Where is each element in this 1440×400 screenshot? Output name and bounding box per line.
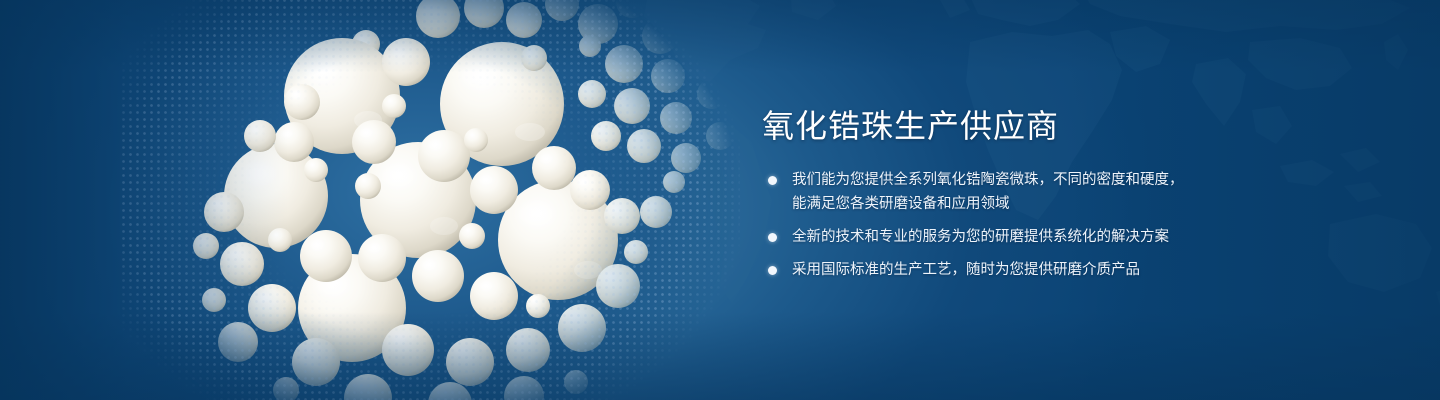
banner-copy: 氧化锆珠生产供应商 我们能为您提供全系列氧化锆陶瓷微珠，不同的密度和硬度， 能满… — [762, 106, 1382, 282]
bullet-dot-icon — [768, 266, 777, 275]
banner-headline: 氧化锆珠生产供应商 — [762, 106, 1382, 146]
hero-banner: 氧化锆珠生产供应商 我们能为您提供全系列氧化锆陶瓷微珠，不同的密度和硬度， 能满… — [0, 0, 1440, 400]
feature-list-item: 全新的技术和专业的服务为您的研磨提供系统化的解决方案 — [762, 225, 1382, 249]
feature-list-item: 采用国际标准的生产工艺，随时为您提供研磨介质产品 — [762, 258, 1382, 282]
feature-list-item: 我们能为您提供全系列氧化锆陶瓷微珠，不同的密度和硬度， 能满足您各类研磨设备和应… — [762, 168, 1382, 216]
banner-feature-list: 我们能为您提供全系列氧化锆陶瓷微珠，不同的密度和硬度， 能满足您各类研磨设备和应… — [762, 168, 1382, 282]
zirconia-beads-photo — [120, 0, 740, 400]
feature-text-line: 采用国际标准的生产工艺，随时为您提供研磨介质产品 — [792, 258, 1382, 282]
feature-text-line: 我们能为您提供全系列氧化锆陶瓷微珠，不同的密度和硬度， — [792, 168, 1382, 192]
bullet-dot-icon — [768, 176, 777, 185]
feature-text-line: 全新的技术和专业的服务为您的研磨提供系统化的解决方案 — [792, 225, 1382, 249]
bullet-dot-icon — [768, 233, 777, 242]
feature-text-line: 能满足您各类研磨设备和应用领域 — [792, 192, 1382, 216]
